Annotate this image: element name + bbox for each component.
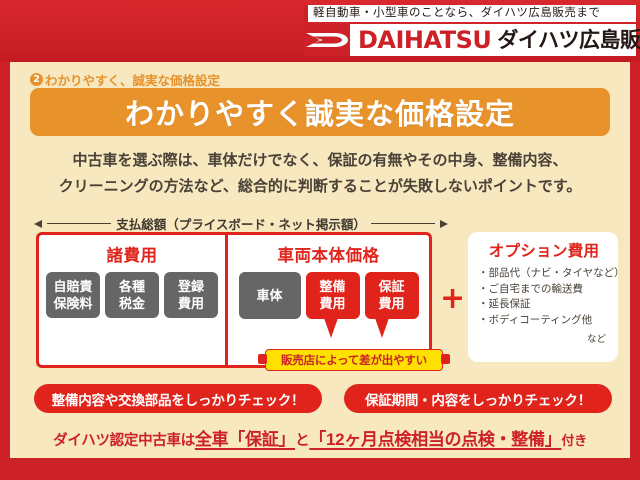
option-fee-list: ・部品代（ナビ・タイヤなど） ・ご自宅までの輸送費 ・延長保証 ・ボディコーティ… — [478, 266, 610, 328]
check-pill-label: 整備内容や交換部品をしっかりチェック！ — [52, 389, 305, 409]
list-item: ・ご自宅までの輸送費 — [478, 282, 610, 298]
section-eyebrow-label: わかりやすく、誠実な価格設定 — [45, 70, 220, 89]
header-tagline: 軽自動車・小型車のことなら、ダイハツ広島販売まで — [304, 5, 636, 22]
section-title-banner: わかりやすく誠実な価格設定 — [30, 88, 610, 136]
chip-registration-fee: 登録 費用 — [164, 272, 218, 318]
footer-prefix: ダイハツ認定中古車は — [53, 433, 195, 449]
list-item: ・延長保証 — [478, 297, 610, 313]
chip-vehicle-body: 車体 — [239, 272, 301, 319]
chip-taxes: 各種 税金 — [105, 272, 159, 318]
misc-fee-chips: 自賠責 保険料 各種 税金 登録 費用 — [46, 272, 218, 318]
check-pill-label: 保証期間・内容をしっかりチェック！ — [365, 389, 591, 409]
arrow-right-icon — [440, 220, 448, 228]
list-item: ・部品代（ナビ・タイヤなど） — [478, 266, 610, 282]
pointer-tail-icon — [375, 318, 389, 338]
chip-line-1: 自賠責 — [53, 278, 93, 295]
lead-paragraph: 中古車を選ぶ際は、車体だけでなく、保証の有無やその中身、整備内容、 クリーニング… — [34, 148, 606, 200]
vehicle-price-column: 車両本体価格 車体 整備 費用 保証 費用 — [228, 235, 429, 365]
dealer-logo-block: 軽自動車・小型車のことなら、ダイハツ広島販売まで DAIHATSU ダイハツ広島… — [304, 5, 636, 56]
chip-line-2: 費用 — [372, 295, 412, 312]
plus-icon: + — [440, 284, 465, 314]
chip-line-2: 保険料 — [53, 295, 93, 312]
lead-line-2: クリーニングの方法など、総合的に判断することが失敗しないポイントです。 — [34, 174, 606, 200]
span-label: 支払総額（プライスボード・ネット掲示額） — [116, 214, 366, 233]
footer-conjunction: と — [295, 433, 309, 449]
span-line-left — [47, 223, 111, 224]
chip-maintenance-fee: 整備 費用 — [306, 272, 360, 319]
chip-line-2: 費用 — [171, 295, 211, 312]
infographic-page: 軽自動車・小型車のことなら、ダイハツ広島販売まで DAIHATSU ダイハツ広島… — [0, 0, 640, 480]
chip-line-1: 登録 — [171, 278, 211, 295]
ribbon-nub-right — [441, 354, 450, 364]
certified-used-car-statement: ダイハツ認定中古車は全車「保証」と「12ヶ月点検相当の点検・整備」付き — [10, 425, 630, 450]
pointer-tail-icon — [324, 318, 338, 338]
option-fee-heading: オプション費用 — [478, 239, 610, 261]
page-title: わかりやすく誠実な価格設定 — [125, 91, 515, 133]
chip-line-1: 保証 — [372, 278, 412, 295]
dealer-variance-ribbon: 販売店によって差が出やすい — [265, 349, 443, 371]
section-eyebrow: 2 わかりやすく、誠実な価格設定 — [30, 70, 220, 89]
section-number-badge: 2 — [30, 73, 43, 86]
total-price-span: 支払総額（プライスボード・ネット掲示額） — [34, 214, 448, 233]
chip-line-1: 整備 — [313, 278, 353, 295]
brand-name-jp: ダイハツ広島販売 — [497, 24, 640, 56]
content-card: 2 わかりやすく、誠実な価格設定 わかりやすく誠実な価格設定 中古車を選ぶ際は、… — [10, 62, 630, 458]
chip-line-2: 税金 — [112, 295, 152, 312]
check-pill-warranty: 保証期間・内容をしっかりチェック！ — [344, 384, 612, 413]
option-fee-panel: オプション費用 ・部品代（ナビ・タイヤなど） ・ご自宅までの輸送費 ・延長保証 … — [468, 232, 618, 362]
footer-emphasis-inspection: 「12ヶ月点検相当の点検・整備」 — [309, 430, 561, 449]
daihatsu-d-mark-icon — [304, 24, 350, 56]
span-line-right — [371, 223, 435, 224]
footer-suffix: 付き — [561, 433, 586, 448]
ribbon-label: 販売店によって差が出やすい — [281, 352, 427, 368]
chip-compulsory-insurance: 自賠責 保険料 — [46, 272, 100, 318]
arrow-left-icon — [34, 220, 42, 228]
chip-line-1: 各種 — [112, 278, 152, 295]
list-item: ・ボディコーティング他 — [478, 313, 610, 329]
chip-warranty-fee: 保証 費用 — [365, 272, 419, 319]
footer-emphasis-warranty: 全車「保証」 — [195, 430, 295, 449]
misc-fee-heading: 諸費用 — [107, 242, 158, 266]
footer-bar — [0, 458, 640, 480]
brand-logo-row: DAIHATSU ダイハツ広島販売 — [304, 24, 636, 56]
brand-name-en: DAIHATSU — [350, 24, 497, 56]
chip-line-2: 費用 — [313, 295, 353, 312]
lead-line-1: 中古車を選ぶ際は、車体だけでなく、保証の有無やその中身、整備内容、 — [34, 148, 606, 174]
check-pill-maintenance: 整備内容や交換部品をしっかりチェック！ — [34, 384, 322, 413]
option-etc-label: など — [478, 331, 610, 345]
fee-breakdown-frame: 諸費用 自賠責 保険料 各種 税金 登録 費用 — [36, 232, 432, 368]
page-header: 軽自動車・小型車のことなら、ダイハツ広島販売まで DAIHATSU ダイハツ広島… — [0, 0, 640, 62]
vehicle-price-chips: 車体 整備 費用 保証 費用 — [239, 272, 419, 319]
vehicle-price-heading: 車両本体価格 — [278, 242, 380, 266]
misc-fee-column: 諸費用 自賠責 保険料 各種 税金 登録 費用 — [39, 235, 228, 365]
ribbon-nub-left — [258, 354, 267, 364]
